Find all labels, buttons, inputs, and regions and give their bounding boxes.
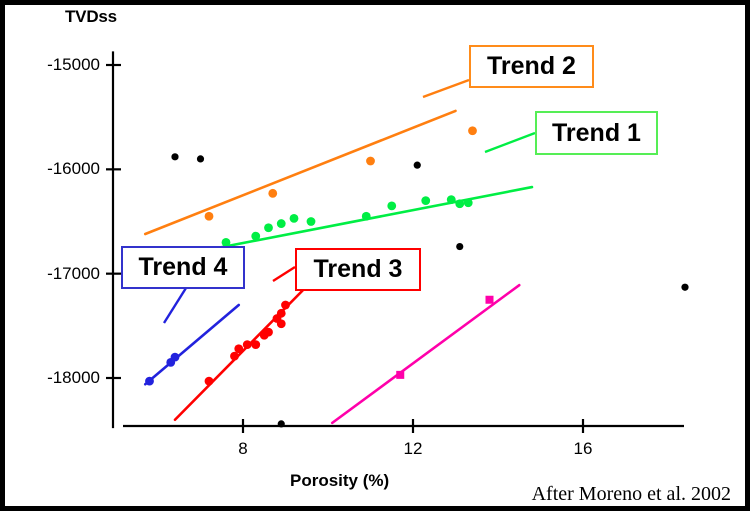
- y-tick-label: -15000: [15, 55, 100, 75]
- data-point: [277, 319, 286, 328]
- data-point: [468, 126, 477, 135]
- callout-leader-trend-1: [485, 133, 535, 152]
- trend-3-callout-label[interactable]: Trend 3: [295, 248, 421, 291]
- trend-2-callout-label[interactable]: Trend 2: [469, 45, 594, 88]
- data-point: [171, 153, 178, 160]
- data-point: [264, 328, 273, 337]
- data-point: [205, 377, 214, 386]
- data-point: [464, 198, 473, 207]
- data-point: [366, 157, 375, 166]
- data-point: [307, 217, 316, 226]
- data-point: [281, 301, 290, 310]
- data-point: [278, 420, 285, 427]
- data-point: [455, 199, 464, 208]
- data-point: [171, 353, 180, 362]
- x-tick-label: 12: [383, 439, 443, 459]
- data-point: [290, 214, 299, 223]
- trend-1-callout-label[interactable]: Trend 1: [535, 111, 658, 155]
- data-point: [421, 196, 430, 205]
- data-point: [681, 284, 688, 291]
- data-point: [456, 243, 463, 250]
- trend-4-callout-label[interactable]: Trend 4: [121, 246, 245, 289]
- trend-line-trend-4: [145, 305, 239, 384]
- trend-line-trend-3: [175, 282, 311, 420]
- trend-line-trend-2: [145, 111, 455, 234]
- y-tick-label: -16000: [15, 159, 100, 179]
- data-point: [251, 340, 260, 349]
- x-tick-label: 16: [553, 439, 613, 459]
- data-point: [197, 155, 204, 162]
- data-point: [362, 212, 371, 221]
- x-axis-title: Porosity (%): [290, 471, 389, 491]
- callout-leader-trend-4: [164, 288, 186, 323]
- data-point: [486, 296, 494, 304]
- data-point: [387, 201, 396, 210]
- data-point: [145, 377, 154, 386]
- data-point: [447, 195, 456, 204]
- callout-leader-trend-3: [273, 267, 295, 281]
- data-point: [414, 162, 421, 169]
- figure-container: TVDss Porosity (%) After Moreno et al. 2…: [0, 0, 750, 511]
- data-point: [277, 219, 286, 228]
- source-credit: After Moreno et al. 2002: [532, 483, 731, 506]
- callout-leader-trend-2: [423, 80, 469, 97]
- data-point: [251, 232, 260, 241]
- y-tick-label: -17000: [15, 264, 100, 284]
- y-tick-label: -18000: [15, 368, 100, 388]
- trend-line-trend-5: [332, 285, 519, 423]
- data-point: [234, 344, 243, 353]
- data-point: [277, 309, 286, 318]
- data-point: [205, 212, 214, 221]
- data-point: [243, 340, 252, 349]
- data-point: [268, 189, 277, 198]
- y-axis-title: TVDss: [65, 7, 117, 27]
- x-tick-label: 8: [213, 439, 273, 459]
- data-point: [264, 223, 273, 232]
- data-point: [396, 371, 404, 379]
